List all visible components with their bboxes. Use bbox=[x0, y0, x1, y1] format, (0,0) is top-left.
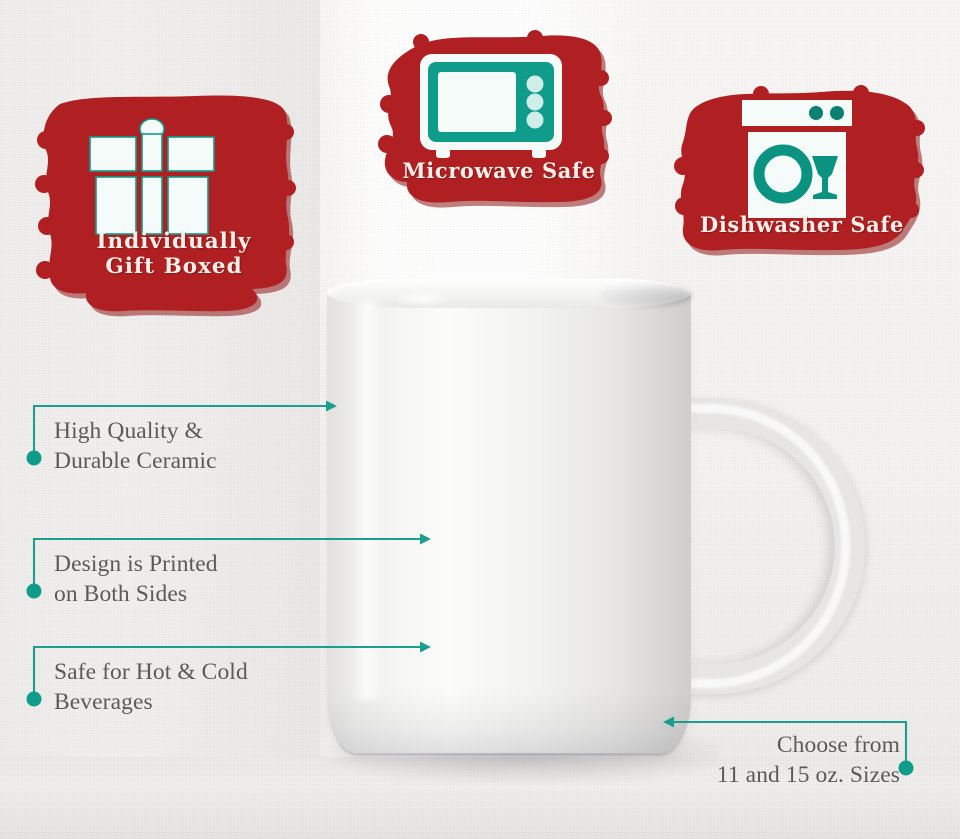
gift-box-icon bbox=[90, 119, 214, 234]
callout-hot-cold-beverages: Safe for Hot & Cold Beverages bbox=[0, 637, 450, 737]
dishwasher-badge-graphic bbox=[668, 76, 936, 268]
callout-text-hot-cold-beverages: Safe for Hot & Cold Beverages bbox=[54, 657, 248, 717]
badge-dishwasher-safe: Dishwasher Safe bbox=[668, 76, 936, 268]
callout-text-printed-both-sides: Design is Printed on Both Sides bbox=[54, 549, 218, 609]
badge-label-gift: Individually Gift Boxed bbox=[24, 230, 324, 280]
callout-printed-both-sides: Design is Printed on Both Sides bbox=[0, 529, 450, 629]
callout-high-quality: High Quality & Durable Ceramic bbox=[0, 396, 360, 496]
callout-choose-sizes: Choose from 11 and 15 oz. Sizes bbox=[640, 706, 960, 806]
badge-individually-gift-boxed: Individually Gift Boxed bbox=[24, 88, 324, 324]
callout-text-choose-sizes: Choose from 11 and 15 oz. Sizes bbox=[652, 730, 900, 790]
microwave-icon bbox=[420, 54, 562, 158]
microwave-badge-graphic bbox=[372, 22, 626, 220]
mug-gloss-rim bbox=[396, 292, 450, 306]
mug-rim-shading bbox=[600, 282, 692, 308]
badge-microwave-safe: Microwave Safe bbox=[372, 22, 626, 220]
dishwasher-icon bbox=[742, 100, 852, 218]
badge-label-microwave: Microwave Safe bbox=[372, 159, 626, 183]
gift-badge-graphic bbox=[24, 88, 324, 324]
callout-text-high-quality: High Quality & Durable Ceramic bbox=[54, 416, 217, 476]
infographic-canvas: Individually Gift Boxed bbox=[0, 0, 960, 839]
badge-label-dishwasher: Dishwasher Safe bbox=[668, 213, 936, 237]
